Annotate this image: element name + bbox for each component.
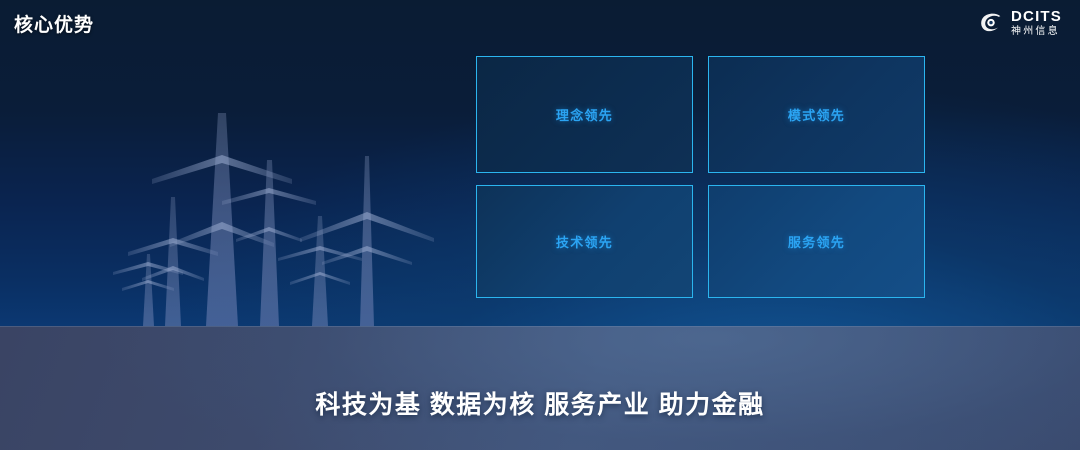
brand-logo: DCITS 神州信息 [978, 9, 1062, 37]
advantage-card-grid: 理念领先 模式领先 技术领先 服务领先 [476, 56, 925, 298]
advantage-card-label: 技术领先 [556, 232, 613, 251]
advantage-card-model[interactable]: 模式领先 [708, 56, 925, 173]
dcits-swirl-logo-icon [978, 10, 1004, 36]
advantage-card-label: 理念领先 [556, 105, 613, 124]
advantage-card-label: 服务领先 [788, 232, 845, 251]
advantage-card-technology[interactable]: 技术领先 [476, 185, 693, 298]
logo-english-text: DCITS [1011, 9, 1062, 24]
advantage-card-label: 模式领先 [788, 105, 845, 124]
advantage-card-concept[interactable]: 理念领先 [476, 56, 693, 173]
page-title: 核心优势 [14, 10, 94, 37]
slide-canvas: 核心优势 DCITS 神州信息 理念领先 模式领先 技术领先 服务领先 科技为基 [0, 0, 1080, 450]
advantage-card-service[interactable]: 服务领先 [708, 185, 925, 298]
footer-tagline: 科技为基 数据为核 服务产业 助力金融 [0, 385, 1080, 421]
tower-2 [128, 197, 218, 326]
tower-5 [278, 216, 362, 326]
logo-chinese-text: 神州信息 [1011, 27, 1062, 37]
